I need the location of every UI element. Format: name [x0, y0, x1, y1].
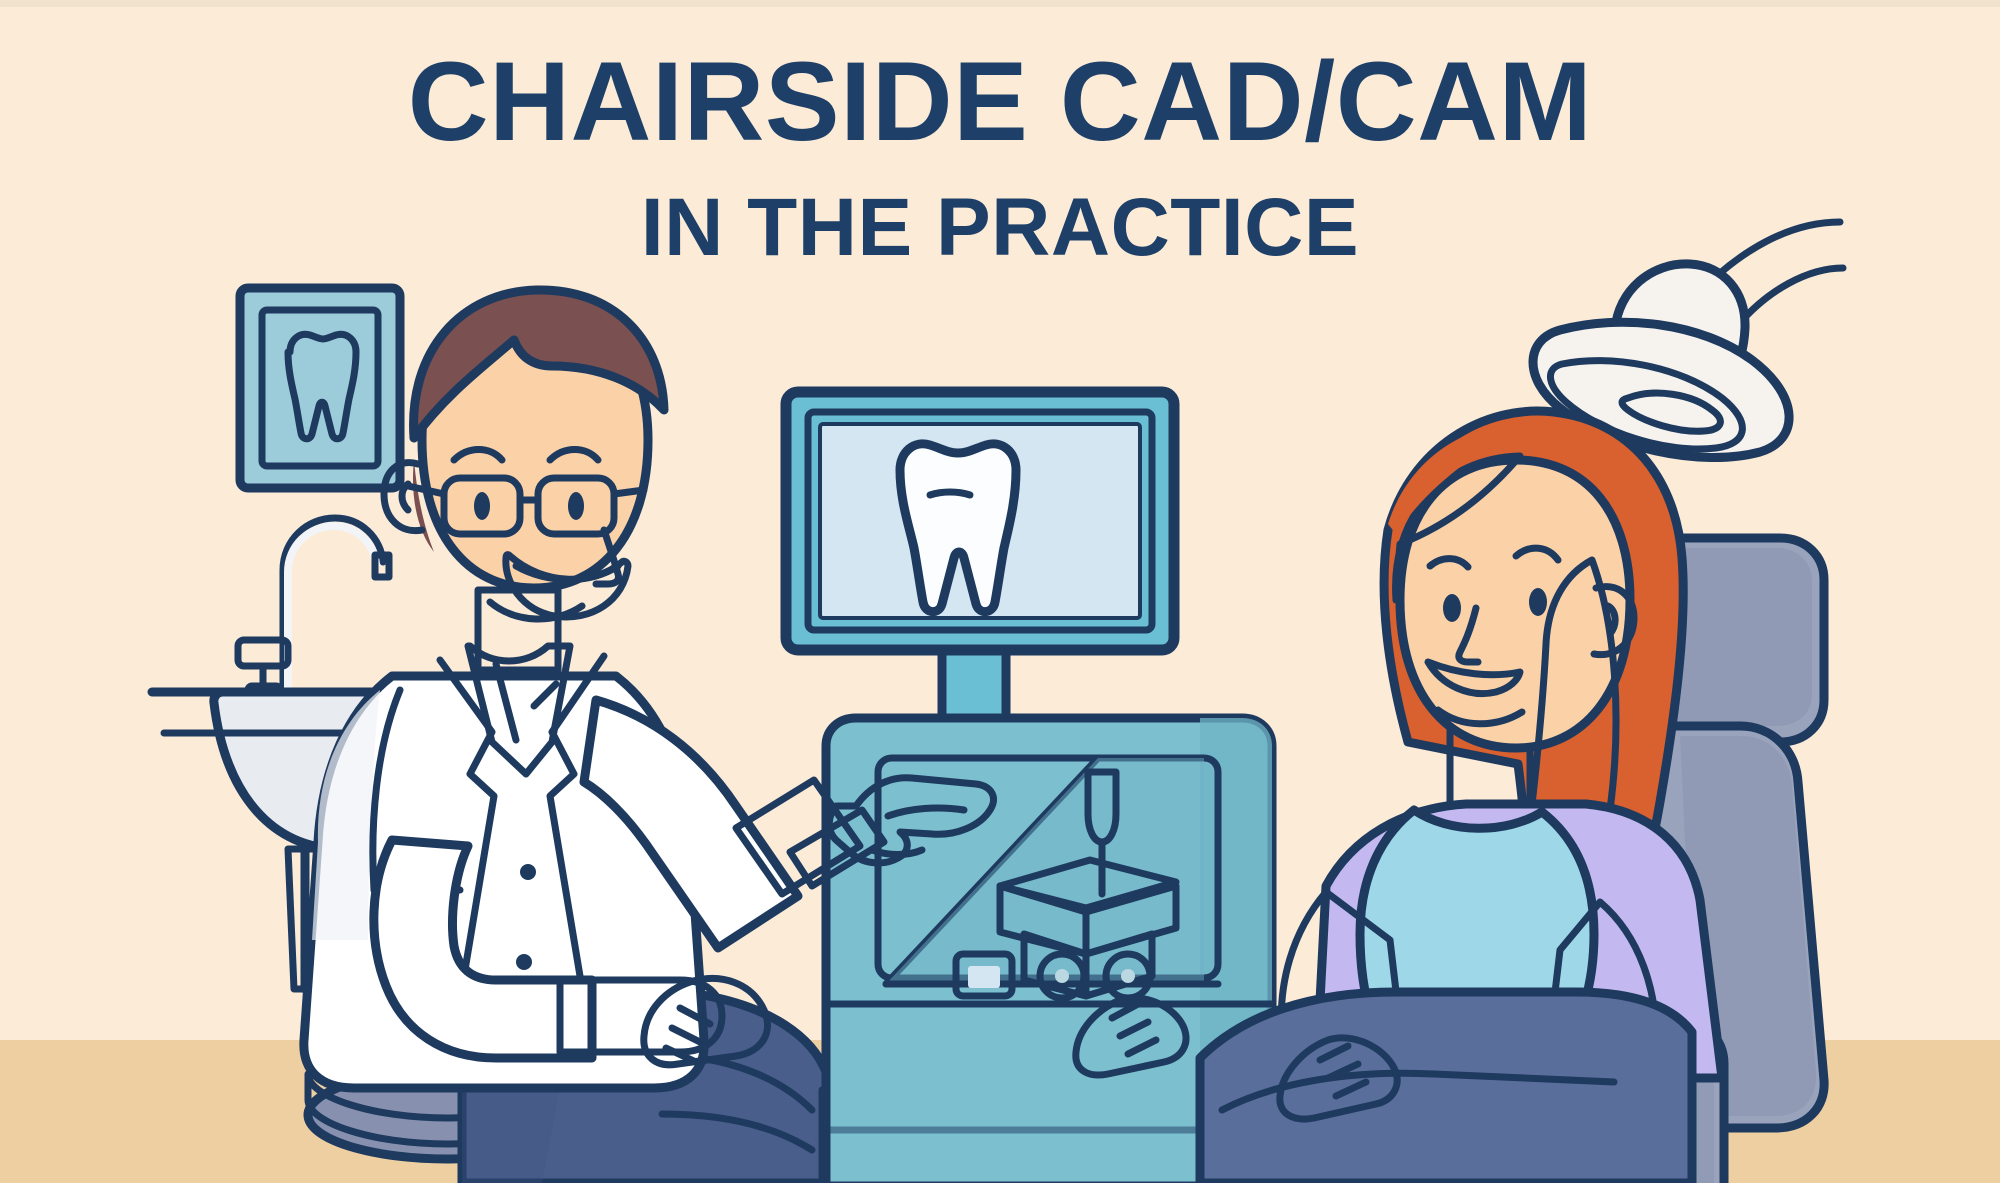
- coat-button-2: [516, 954, 532, 970]
- page-title: CHAIRSIDE CAD/CAM: [408, 39, 1593, 164]
- page-subtitle: IN THE PRACTICE: [641, 182, 1359, 273]
- xray-wall-frame: [240, 288, 400, 488]
- illustration-root: .ol { stroke: #1E3A5F; stroke-width: 9; …: [0, 0, 2000, 1183]
- patient-eye-right: [1529, 588, 1547, 616]
- poster-canvas: .ol { stroke: #1E3A5F; stroke-width: 9; …: [0, 0, 2000, 1183]
- coat-button-1: [520, 864, 536, 880]
- dentist-eye-left: [474, 492, 490, 520]
- patient-eye-left: [1443, 594, 1461, 622]
- top-edge-shade: [0, 0, 2000, 7]
- dentist-eye-right: [568, 492, 584, 520]
